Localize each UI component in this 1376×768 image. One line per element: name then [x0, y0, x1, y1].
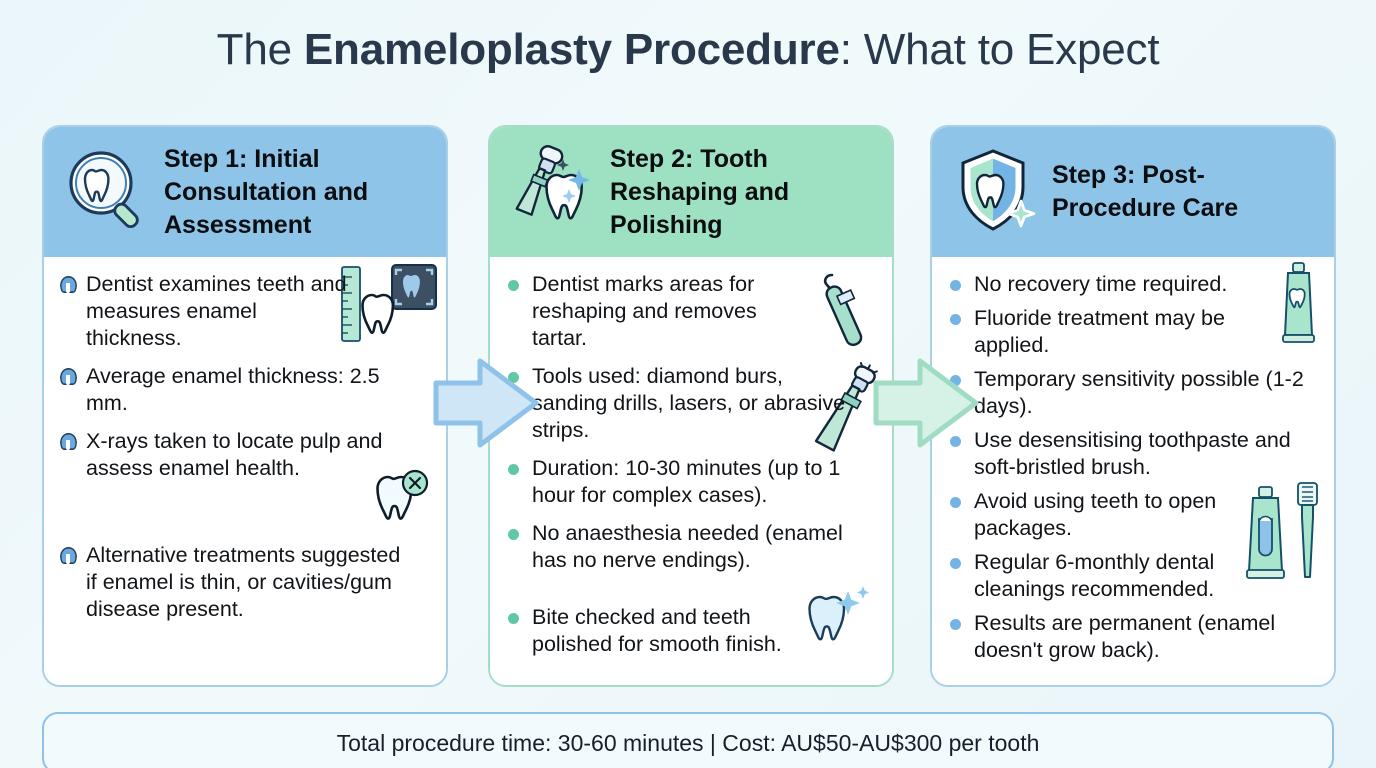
list-item: No anaesthesia needed (enamel has no ner…: [502, 520, 874, 574]
step-card-3-body: No recovery time required. Fluoride trea…: [932, 257, 1334, 685]
list-item: Temporary sensitivity possible (1-2 days…: [944, 366, 1304, 420]
list-item: Tools used: diamond burs, sanding drills…: [502, 363, 862, 444]
step-card-3-title: Step 3: Post-Procedure Care: [1052, 159, 1320, 225]
step-card-2-header: Step 2: Tooth Reshaping and Polishing: [490, 127, 892, 257]
list-item: Average enamel thickness: 2.5 mm.: [56, 363, 386, 417]
list-item: Avoid using teeth to open packages.: [944, 488, 1224, 542]
page-title-trail: : What to Expect: [840, 25, 1160, 74]
step-card-2: Step 2: Tooth Reshaping and Polishing: [488, 125, 894, 687]
list-item: Dentist examines teeth and measures enam…: [56, 271, 356, 352]
page-title-lead: The: [217, 25, 304, 74]
list-item: Use desensitising toothpaste and soft-br…: [944, 427, 1299, 481]
list-item: Regular 6-monthly dental cleanings recom…: [944, 549, 1254, 603]
dental-drill-sparkle-tooth-icon: [506, 144, 602, 240]
step-card-2-body: Dentist marks areas for reshaping and re…: [490, 257, 892, 685]
list-item: X-rays taken to locate pulp and assess e…: [56, 428, 406, 482]
step-card-3-bullet-list: No recovery time required. Fluoride trea…: [944, 271, 1320, 664]
footer-summary-text: Total procedure time: 30-60 minutes | Co…: [337, 730, 1040, 757]
footer-summary-bar: Total procedure time: 30-60 minutes | Co…: [42, 712, 1334, 768]
list-item: Fluoride treatment may be applied.: [944, 305, 1264, 359]
arrow-step2-to-step3: [872, 355, 984, 451]
step-card-3: Step 3: Post-Procedure Care: [930, 125, 1336, 687]
step-card-1-title: Step 1: Initial Consultation and Assessm…: [164, 143, 432, 242]
page-title: The Enameloplasty Procedure: What to Exp…: [0, 22, 1376, 78]
magnifier-tooth-icon: [60, 144, 156, 240]
list-item: Bite checked and teeth polished for smoo…: [502, 604, 802, 658]
step-card-2-title: Step 2: Tooth Reshaping and Polishing: [610, 143, 878, 242]
step-card-1-body: Dentist examines teeth and measures enam…: [44, 257, 446, 685]
list-item: Duration: 10-30 minutes (up to 1 hour fo…: [502, 455, 858, 509]
step-card-3-header: Step 3: Post-Procedure Care: [932, 127, 1334, 257]
shield-tooth-icon: [948, 144, 1044, 240]
arrow-step1-to-step2: [432, 355, 544, 451]
list-item: Results are permanent (enamel doesn't gr…: [944, 610, 1309, 664]
step-card-1-bullet-list: Dentist examines teeth and measures enam…: [56, 271, 432, 623]
list-item: Alternative treatments suggested if enam…: [56, 542, 406, 623]
step-card-1: Step 1: Initial Consultation and Assessm…: [42, 125, 448, 687]
list-item: Dentist marks areas for reshaping and re…: [502, 271, 812, 352]
page-title-emphasis: Enameloplasty Procedure: [304, 25, 840, 74]
step-card-1-header: Step 1: Initial Consultation and Assessm…: [44, 127, 446, 257]
step-card-2-bullet-list: Dentist marks areas for reshaping and re…: [502, 271, 878, 658]
list-item: No recovery time required.: [944, 271, 1259, 298]
